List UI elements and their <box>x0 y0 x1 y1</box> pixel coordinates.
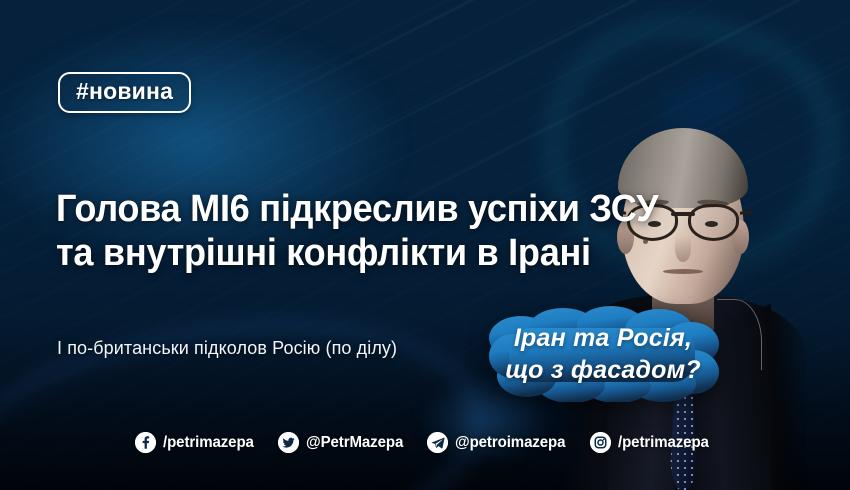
telegram-icon <box>427 432 448 453</box>
social-links-bar: /petrimazepa @PetrMazepa @petroimazepa <box>0 432 850 453</box>
social-link-telegram[interactable]: @petroimazepa <box>427 432 572 453</box>
quote-bubble-shape <box>487 306 719 402</box>
subtitle: І по-британськи підколов Росію (по ділу) <box>57 338 397 359</box>
twitter-handle: @PetrMazepa <box>306 434 403 452</box>
social-link-facebook[interactable]: /petrimazepa <box>135 432 260 453</box>
twitter-icon <box>278 432 299 453</box>
news-card: #новина Голова MI6 підкреслив успіхи ЗСУ… <box>0 0 850 490</box>
social-link-twitter[interactable]: @PetrMazepa <box>278 432 409 453</box>
hashtag-badge[interactable]: #новина <box>58 72 191 113</box>
page-title: Голова MI6 підкреслив успіхи ЗСУ та внут… <box>56 188 607 275</box>
social-link-instagram[interactable]: /petrimazepa <box>590 432 715 453</box>
instagram-icon <box>590 432 611 453</box>
telegram-handle: @petroimazepa <box>455 434 565 452</box>
headline-line-1: Голова MI6 підкреслив успіхи ЗСУ <box>56 188 607 232</box>
headline-line-2: та внутрішні конфлікти в Ірані <box>56 232 607 276</box>
facebook-handle: /petrimazepa <box>163 434 254 452</box>
facebook-icon <box>135 432 156 453</box>
quote-bubble: Іран та Росія, що з фасадом? <box>487 306 719 402</box>
instagram-handle: /petrimazepa <box>618 434 709 452</box>
